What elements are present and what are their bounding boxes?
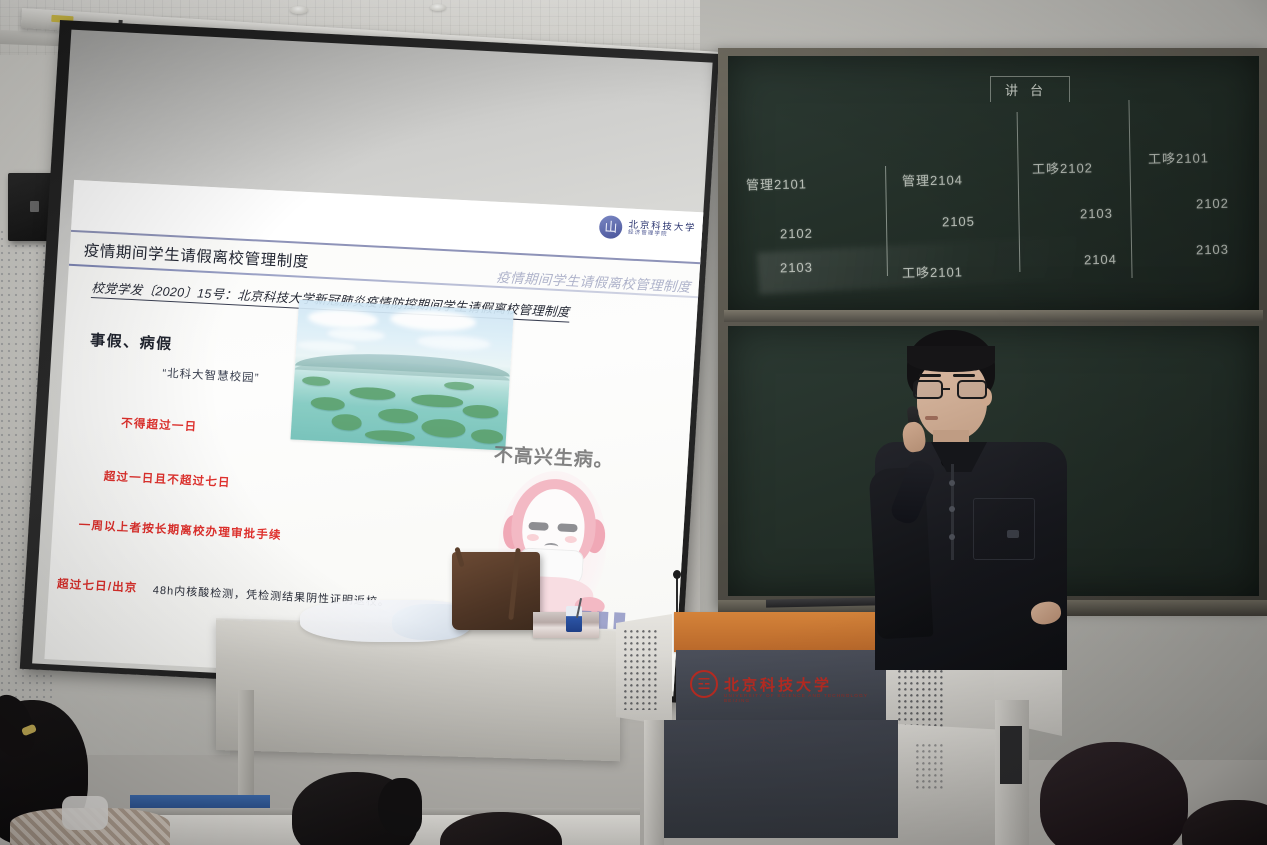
student-head — [1182, 800, 1267, 845]
presenter-face — [917, 360, 987, 440]
policy-rule-3: 一周以上者按长期离校办理审批手续 — [78, 517, 282, 543]
ustb-seal-icon: ☲ — [690, 670, 718, 698]
brown-leather-handbag — [452, 552, 540, 630]
chalk-entry: 2102 — [780, 226, 813, 242]
chalk-header-podium: 讲台 — [990, 76, 1070, 102]
pocket-tab — [1007, 530, 1019, 538]
chalk-entry: 工哆2102 — [1032, 157, 1093, 177]
policy-rule-1: 不得超过一日 — [121, 415, 198, 435]
chalk-entry: 2105 — [942, 214, 975, 230]
leave-types-heading: 事假、病假 — [90, 329, 174, 354]
screen-surface: 山 北京科技大学 经济管理学院 疫情期间学生请假离校管理制度 疫情期间学生请假离… — [32, 30, 713, 697]
chalk-entry: 2103 — [1080, 206, 1113, 222]
jacket-placket — [951, 464, 954, 560]
ceiling-light — [290, 6, 308, 14]
microphone-icon — [673, 570, 681, 579]
handbag-strap — [508, 548, 520, 620]
chalk-entry: 工哆2101 — [902, 261, 963, 281]
campus-app-name: “北科大智慧校园” — [162, 365, 260, 386]
chalk-entry: 2104 — [1084, 252, 1117, 268]
student-head — [1040, 742, 1188, 845]
hair-clip-icon — [378, 778, 422, 836]
chalk-entry: 2103 — [1196, 242, 1229, 258]
seat-back-dark — [1000, 726, 1022, 784]
face-mask-icon — [62, 796, 108, 830]
lectern-lower-grille — [916, 744, 946, 790]
jacket-chest-pocket — [973, 498, 1035, 560]
lectern-university-name-en: UNIVERSITY OF SCIENCE AND TECHNOLOGY BEI… — [724, 693, 888, 703]
university-logo: 山 北京科技大学 经济管理学院 — [599, 215, 697, 243]
scenic-island-photo — [290, 300, 513, 451]
presenter — [855, 330, 1085, 670]
ustb-logo-icon: 山 — [599, 215, 623, 239]
mascot-caption: 不高兴生病。 — [493, 440, 615, 473]
microphone-stand — [676, 576, 678, 616]
eyeglasses-icon — [911, 380, 993, 400]
presenter-mouth — [925, 416, 938, 420]
chalk-entry: 2103 — [780, 260, 813, 276]
policy-rule-4: 超过七日/出京 — [57, 576, 138, 596]
chalk-entry: 管理2104 — [902, 169, 963, 189]
chalk-entry: 2102 — [1196, 196, 1229, 212]
chalk-entry: 工哆2101 — [1148, 147, 1209, 167]
lectern-university-name: 北京科技大学 — [724, 674, 832, 695]
lectern-base-front — [660, 720, 898, 838]
lectern-pillar — [644, 720, 664, 845]
classroom-photo: 山 北京科技大学 经济管理学院 疫情期间学生请假离校管理制度 疫情期间学生请假离… — [0, 0, 1267, 845]
presenter-hair-fringe — [907, 346, 995, 372]
ceiling-light — [430, 4, 446, 11]
blackboard-rail — [724, 310, 1263, 322]
chalk-entry: 管理2101 — [746, 173, 807, 193]
policy-rule-2: 超过一日且不超过七日 — [103, 468, 231, 491]
